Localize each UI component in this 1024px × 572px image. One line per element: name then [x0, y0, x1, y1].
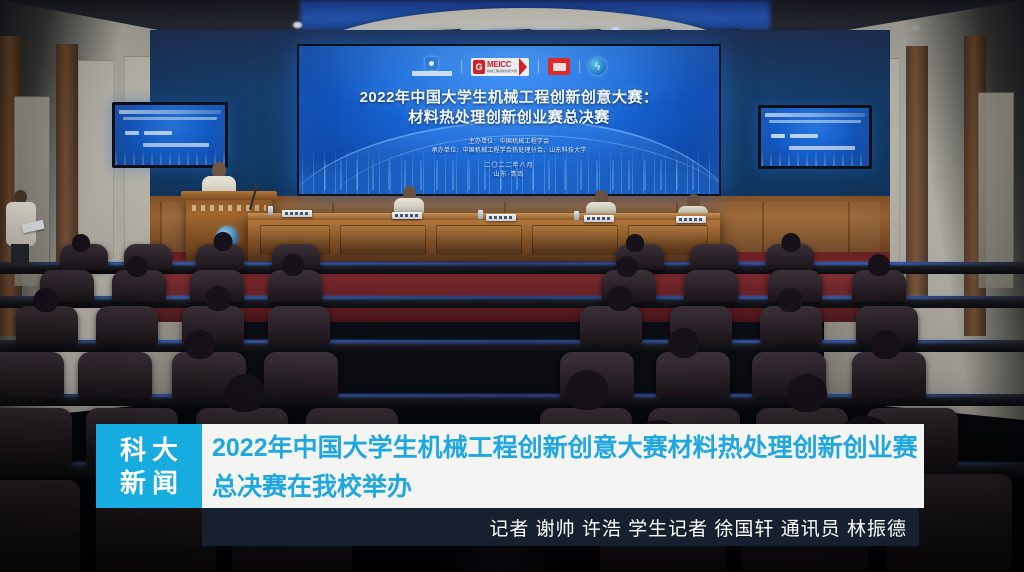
audience-chair: [0, 480, 80, 570]
credits-text: 记者 谢帅 许浩 学生记者 徐国轩 通讯员 林振德: [489, 514, 907, 541]
ceiling-downlight: [292, 21, 303, 29]
news-logo-line2: 新闻: [114, 467, 184, 499]
heat-treatment-branch-logo: [589, 58, 606, 75]
audience-member: [600, 286, 640, 318]
screen-date-place: 二〇二二年八月 山东·青岛: [299, 162, 719, 180]
news-headline-banner: 2022年中国大学生机械工程创新创意大赛材料热处理创新创业赛 总决赛在我校举办: [202, 424, 924, 508]
headline-line-1: 2022年中国大学生机械工程创新创意大赛材料热处理创新创业赛: [212, 429, 914, 468]
news-credits-bar: 记者 谢帅 许浩 学生记者 徐国轩 通讯员 林振德: [202, 508, 919, 546]
audience-member: [862, 330, 910, 370]
water-bottle: [574, 211, 579, 220]
audience-member: [862, 254, 896, 280]
audience-member: [556, 370, 618, 422]
broadcast-frame: G MEICC机械工程创新创意大赛 2022年中国大学生机械工程创新创意大赛： …: [0, 0, 1024, 572]
red-badge-logo: [548, 58, 570, 75]
audience-member: [198, 286, 238, 318]
screen-organizer-line2: 承办单位：中国机械工程学会热处理分会、山东科技大学: [299, 147, 719, 156]
audience-member: [776, 233, 806, 255]
aisle-floor-glow: [440, 548, 560, 572]
headline-line-2: 总决赛在我校举办: [212, 468, 914, 507]
audience-member: [120, 256, 154, 282]
china-mechanical-engineering-society-logo: [412, 57, 452, 76]
audience-member: [208, 232, 238, 254]
audience-chair: [268, 306, 330, 344]
screen-organizers: 主办单位：中国机械工程学会 承办单位：中国机械工程学会热处理分会、山东科技大学: [299, 138, 719, 156]
screen-title-line1: 2022年中国大学生机械工程创新创意大赛：: [299, 88, 719, 108]
left-led-screen: [112, 102, 228, 168]
sponsor-logo-row: G MEICC机械工程创新创意大赛: [299, 57, 719, 76]
logo-divider: [538, 60, 539, 73]
news-program-logo: 科大 新闻: [96, 424, 202, 508]
audience-chair: [0, 408, 72, 466]
table-nameplate: [676, 216, 706, 223]
audience-member: [26, 288, 66, 320]
screen-title: 2022年中国大学生机械工程创新创意大赛： 材料热处理创新创业赛总决赛: [299, 88, 719, 128]
news-logo-line1: 科大: [114, 434, 184, 466]
audience-member: [66, 234, 96, 256]
podium-university-name: [192, 205, 266, 211]
table-nameplate: [584, 215, 614, 222]
audience-member: [620, 234, 650, 256]
audience-chair: [78, 352, 152, 398]
water-bottle: [478, 210, 483, 219]
audience-member: [176, 330, 224, 370]
table-nameplate: [392, 212, 422, 219]
screen-place: 山东·青岛: [299, 171, 719, 180]
wall-panel: [78, 60, 114, 260]
screen-organizer-line1: 主办单位：中国机械工程学会: [299, 138, 719, 147]
table-nameplate: [282, 210, 312, 217]
audience-member: [660, 328, 708, 368]
water-bottle: [268, 206, 273, 215]
audience-chair: [0, 352, 64, 398]
audience-chair: [684, 270, 738, 302]
logo-divider: [579, 60, 580, 73]
audience-chair: [690, 244, 738, 270]
screen-title-line2: 材料热处理创新创业赛总决赛: [299, 108, 719, 128]
audience-member: [276, 254, 310, 280]
logo-divider: [461, 60, 462, 73]
audience-member: [610, 256, 644, 282]
screen-date: 二〇二二年八月: [299, 162, 719, 171]
meicc-logo: G MEICC机械工程创新创意大赛: [471, 58, 529, 76]
audience-member: [770, 288, 810, 320]
audience-chair: [96, 306, 158, 344]
audience-member: [214, 374, 276, 426]
main-led-screen: G MEICC机械工程创新创意大赛 2022年中国大学生机械工程创新创意大赛： …: [297, 44, 721, 196]
table-nameplate: [486, 214, 516, 221]
right-led-screen: [758, 105, 872, 169]
